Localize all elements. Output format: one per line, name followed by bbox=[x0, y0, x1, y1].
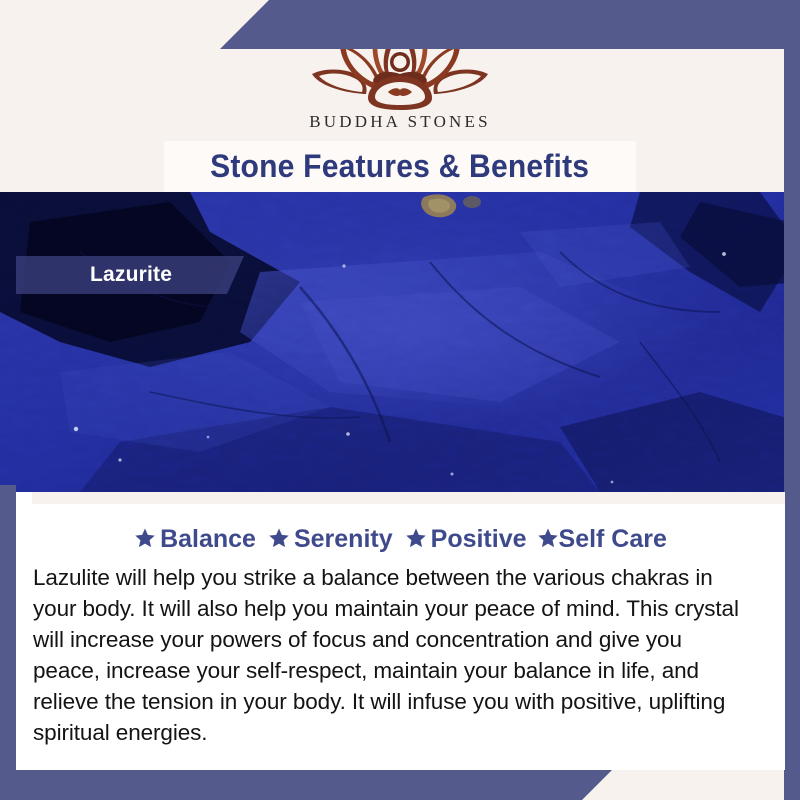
star-icon bbox=[405, 527, 427, 556]
poster-root: BUDDHA STONES bbox=[0, 0, 800, 800]
keyword-item: Serenity bbox=[268, 525, 393, 556]
page-title: Stone Features & Benefits bbox=[210, 148, 589, 185]
brand-name: BUDDHA STONES bbox=[0, 112, 800, 132]
keyword-label: Balance bbox=[160, 525, 256, 553]
star-icon bbox=[134, 527, 156, 556]
keyword-list: BalanceSerenityPositiveSelf Care bbox=[16, 525, 785, 556]
keyword-label: Self Care bbox=[559, 525, 667, 553]
frame-band-left bbox=[0, 485, 16, 800]
keyword-item: Positive bbox=[405, 525, 527, 556]
star-icon bbox=[268, 527, 290, 556]
keyword-item: Self Care bbox=[537, 525, 667, 556]
keyword-item: Balance bbox=[134, 525, 256, 556]
stone-name-label: Lazurite bbox=[90, 263, 172, 287]
stone-photo bbox=[0, 192, 800, 492]
frame-band-right bbox=[784, 0, 800, 800]
stone-name-ribbon: Lazurite bbox=[16, 256, 244, 294]
star-icon bbox=[537, 527, 559, 556]
content-card: BalanceSerenityPositiveSelf Care Lazulit… bbox=[16, 492, 785, 770]
description-text: Lazulite will help you strike a balance … bbox=[33, 562, 751, 748]
keyword-label: Positive bbox=[431, 525, 527, 553]
title-band: Stone Features & Benefits bbox=[164, 141, 636, 192]
keyword-label: Serenity bbox=[294, 525, 393, 553]
frame-band-top bbox=[220, 0, 800, 49]
